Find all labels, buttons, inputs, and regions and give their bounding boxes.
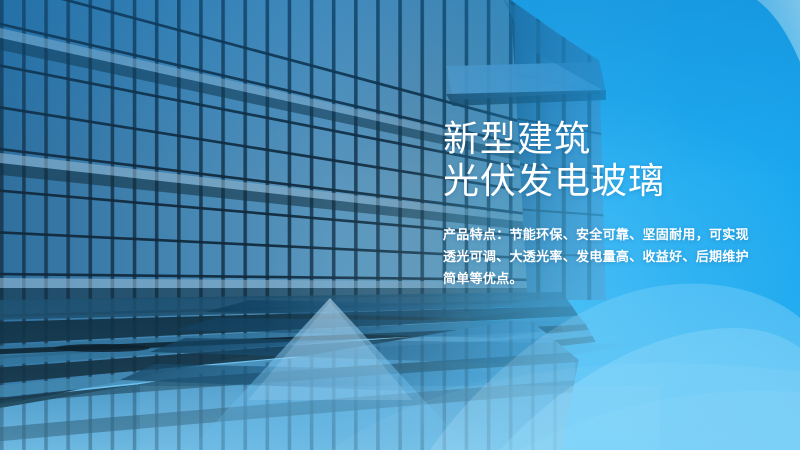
promo-slide: 新型建筑 光伏发电玻璃 产品特点：节能环保、安全可靠、坚固耐用，可实现透光可调、… xyxy=(0,0,800,450)
headline-line-1: 新型建筑 xyxy=(443,118,773,160)
headline-line-2: 光伏发电玻璃 xyxy=(443,160,773,202)
product-features-text: 产品特点：节能环保、安全可靠、坚固耐用，可实现透光可调、大透光率、发电量高、收益… xyxy=(443,224,761,290)
copy-block: 新型建筑 光伏发电玻璃 产品特点：节能环保、安全可靠、坚固耐用，可实现透光可调、… xyxy=(443,118,773,290)
